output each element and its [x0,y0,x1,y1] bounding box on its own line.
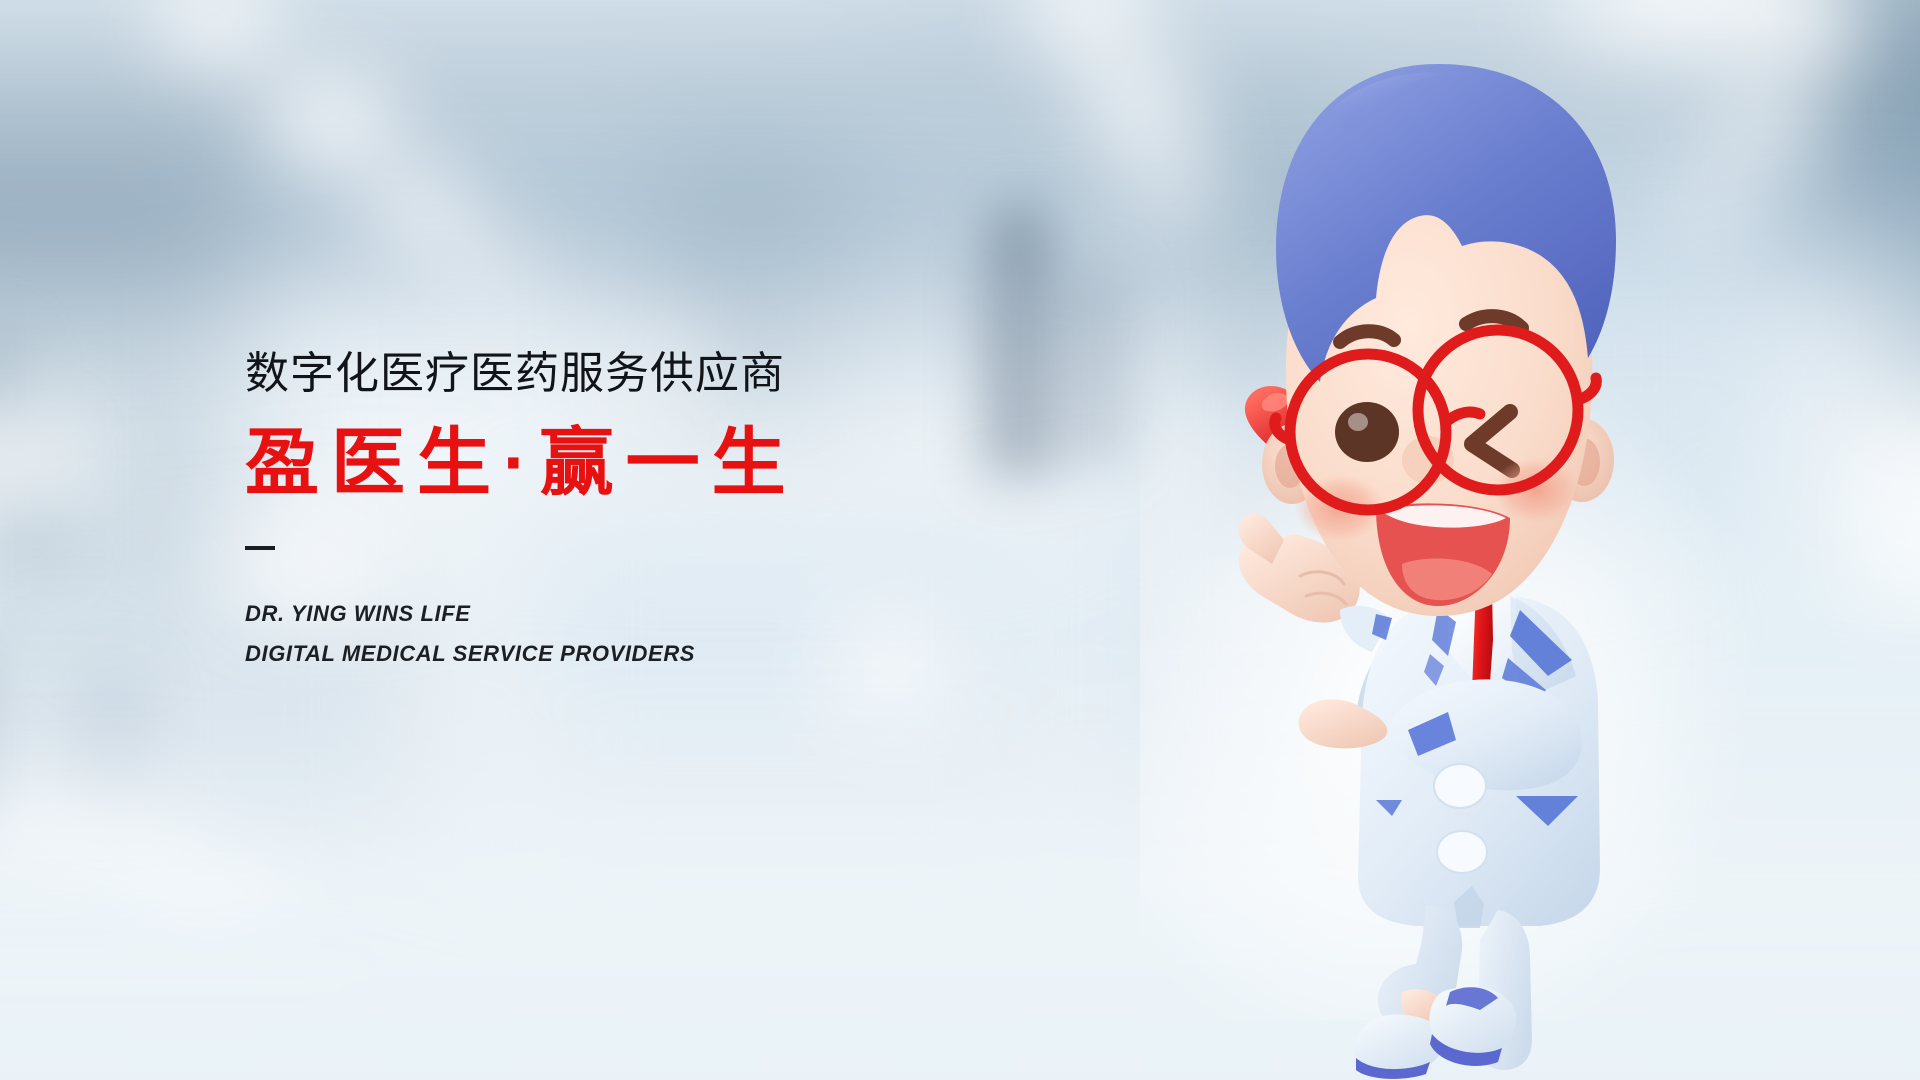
coat-button-top [1434,764,1486,808]
banner-text-block: 数字化医疗医药服务供应商 盈医生·赢一生 DR. YING WINS LIFE … [245,352,798,674]
coat-button-bottom [1437,831,1487,873]
subtitle-english-line2: DIGITAL MEDICAL SERVICE PROVIDERS [245,634,798,674]
banner-stage: 数字化医疗医药服务供应商 盈医生·赢一生 DR. YING WINS LIFE … [0,0,1920,1080]
slogan-chinese: 盈医生·赢一生 [245,426,798,500]
mascot-body [1356,588,1600,928]
doctor-mascot-3d [1180,40,1700,1080]
headline-chinese: 数字化医疗医药服务供应商 [245,352,798,396]
mascot-head [1262,64,1616,616]
subtitle-english-line1: DR. YING WINS LIFE [245,594,798,634]
eye-open-left [1335,402,1399,462]
mascot-legs [1354,906,1532,1079]
divider-rule [245,546,275,550]
